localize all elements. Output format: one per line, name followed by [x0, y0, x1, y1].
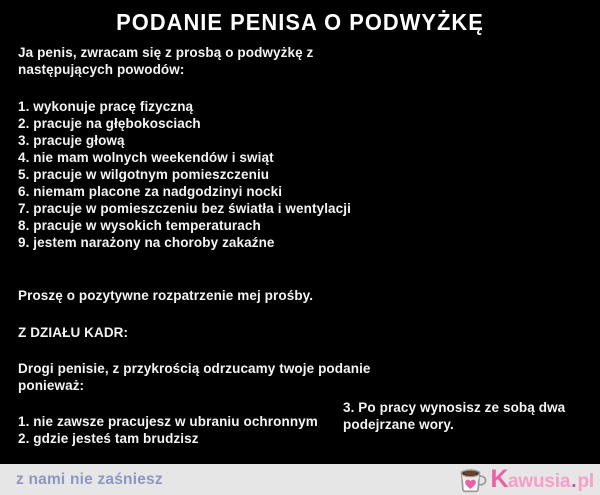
list-item: 1. nie zawsze pracujesz w ubraniu ochron… [18, 413, 318, 430]
intro-line: Ja penis, zwracam się z prosbą o podwyżk… [18, 44, 313, 61]
rejection-reasons-right-column: 3. Po pracy wynosisz ze sobą dwa podejrz… [343, 399, 565, 433]
brand-tld: pl [578, 472, 595, 491]
footer-bar: z nami nie zaśniesz K awusia . pl [0, 464, 600, 495]
list-item: 3. Po pracy wynosisz ze sobą dwa [343, 399, 565, 416]
brand-logo[interactable]: K awusia . pl [457, 466, 594, 493]
list-item: 2. gdzie jesteś tam brudzisz [18, 430, 318, 447]
brand-name: awusia [508, 472, 570, 491]
rejection-reasons-left-column: 1. nie zawsze pracujesz w ubraniu ochron… [18, 413, 318, 447]
list-item: 2. pracuje na głębokosciach [18, 115, 351, 132]
list-item: 3. pracuje głową [18, 132, 351, 149]
list-item: 4. nie mam wolnych weekendów i swiąt [18, 149, 351, 166]
reasons-list: 1. wykonuje pracę fizyczną 2. pracuje na… [18, 98, 351, 251]
coffee-mug-icon [457, 467, 487, 493]
meme-title: PODANIE PENISA O PODWYŻKĘ [15, 9, 585, 36]
brand-separator: . [570, 472, 577, 491]
intro-line: następujących powodów: [18, 61, 313, 78]
meme-image: PODANIE PENISA O PODWYŻKĘ Ja penis, zwra… [0, 0, 600, 495]
department-heading: Z DZIAŁU KADR: [18, 324, 128, 341]
list-item: 6. niemam placone za nadgodzinyi nocki [18, 183, 351, 200]
brand-initial: K [490, 467, 508, 492]
rejection-line: Drogi penisie, z przykrością odrzucamy t… [18, 360, 371, 377]
list-item: 9. jestem narażony na choroby zakaźne [18, 234, 351, 251]
footer-tagline: z nami nie zaśniesz [16, 471, 163, 489]
list-item: podejrzane wory. [343, 416, 565, 433]
rejection-paragraph: Drogi penisie, z przykrością odrzucamy t… [18, 360, 371, 394]
list-item: 7. pracuje w pomieszczeniu bez światła i… [18, 200, 351, 217]
rejection-line: ponieważ: [18, 377, 371, 394]
list-item: 1. wykonuje pracę fizyczną [18, 98, 351, 115]
list-item: 5. pracuje w wilgotnym pomieszczeniu [18, 166, 351, 183]
intro-paragraph: Ja penis, zwracam się z prosbą o podwyżk… [18, 44, 313, 78]
list-item: 8. pracuje w wysokich temperaturach [18, 217, 351, 234]
brand-wordmark: K awusia . pl [490, 467, 594, 492]
closing-line: Proszę o pozytywne rozpatrzenie mej proś… [18, 287, 313, 304]
